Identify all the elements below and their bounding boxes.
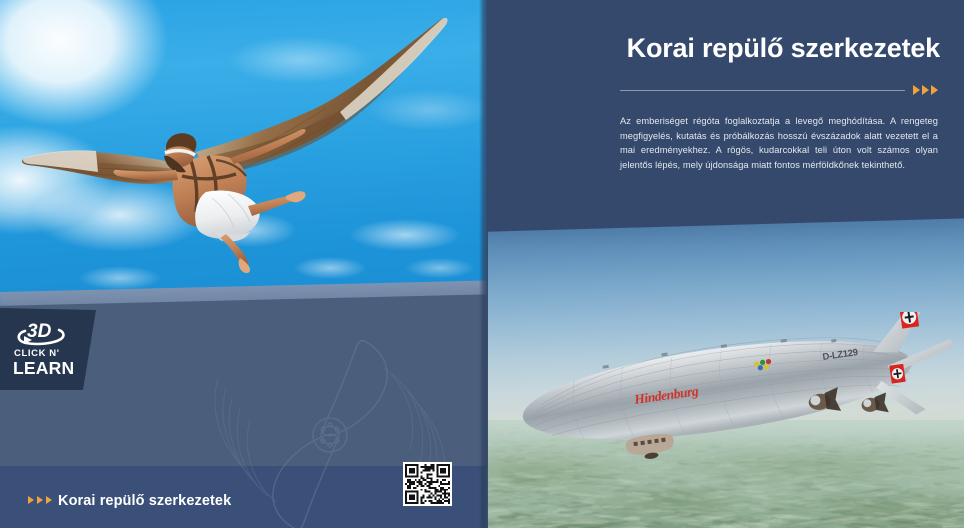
qr-code[interactable]	[403, 462, 452, 506]
triangle-arrow-icon	[913, 85, 920, 95]
divider-arrow-group	[913, 85, 938, 95]
left-illustration-panel: 3D CLICK N' LEARN Korai repülő szerkezet…	[0, 0, 487, 528]
footer-caption: Korai repülő szerkezetek	[58, 493, 231, 509]
triangle-arrow-icon	[922, 85, 929, 95]
hindenburg-airship-illustration: Hindenburg D-LZ129	[517, 312, 964, 462]
triangle-arrow-icon	[28, 496, 34, 504]
3d-rotate-icon: 3D	[13, 317, 69, 347]
triangle-arrow-icon	[46, 496, 52, 504]
triangle-arrow-icon	[37, 496, 43, 504]
divider-line	[620, 90, 905, 91]
title-divider-row	[620, 85, 938, 95]
3d-click-n-learn-badge[interactable]: 3D CLICK N' LEARN	[0, 308, 96, 390]
intro-paragraph: Az emberiséget régóta foglalkoztatja a l…	[620, 114, 938, 173]
svg-text:3D: 3D	[27, 321, 52, 342]
triangle-arrow-icon	[931, 85, 938, 95]
icarus-winged-man-illustration	[0, 0, 487, 312]
badge-learn-label: LEARN	[13, 360, 74, 378]
footer-arrow-group	[28, 496, 52, 504]
page-title: Korai repülő szerkezetek	[620, 33, 940, 63]
poster-page: 3D CLICK N' LEARN Korai repülő szerkezet…	[0, 0, 964, 528]
